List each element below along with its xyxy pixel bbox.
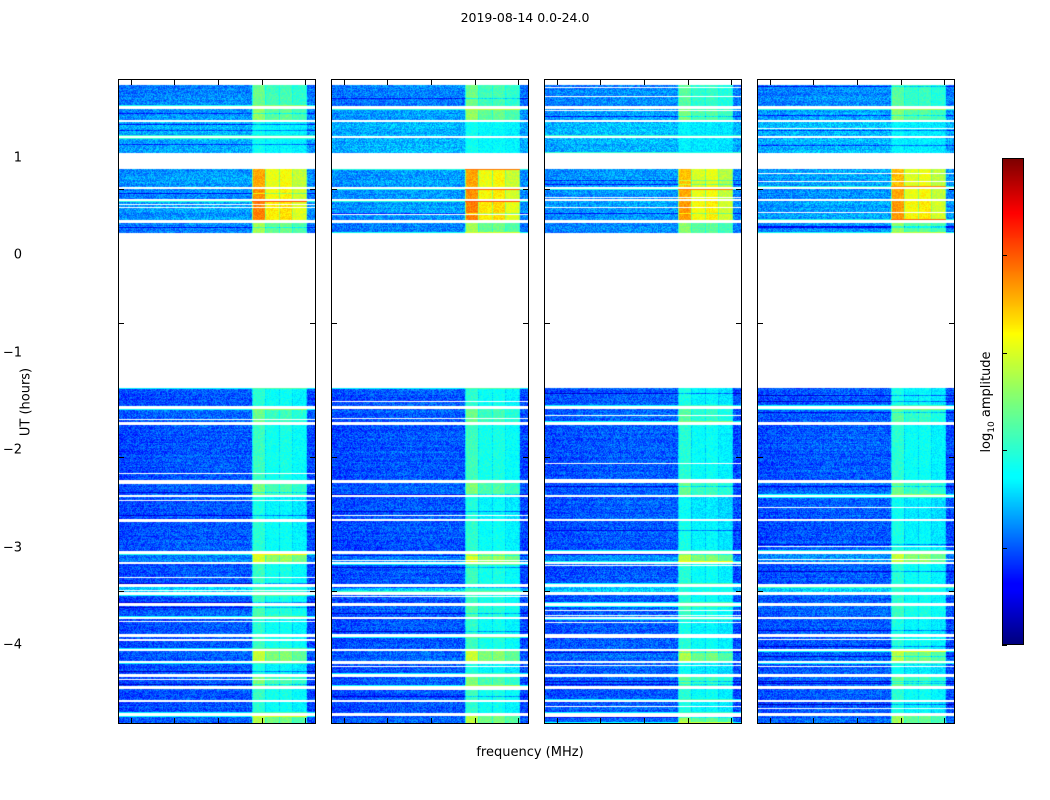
waterfall-image xyxy=(332,80,528,723)
colorbar-tick-label: −3 xyxy=(3,540,22,555)
x-tick-mark xyxy=(901,80,902,85)
y-axis-label: UT (hours) xyxy=(19,368,34,436)
x-tick-mark xyxy=(131,718,132,723)
y-tick-mark xyxy=(310,591,315,592)
y-tick-mark xyxy=(545,189,550,190)
y-tick-mark xyxy=(332,323,337,324)
x-tick-mark xyxy=(731,80,732,85)
y-tick-mark xyxy=(545,591,550,592)
colorbar-tick-mark xyxy=(1002,353,1007,354)
y-tick-mark xyxy=(523,591,528,592)
x-tick-mark xyxy=(518,718,519,723)
x-tick-mark xyxy=(387,718,388,723)
x-tick-mark xyxy=(813,718,814,723)
y-tick-mark xyxy=(119,457,124,458)
colorbar-tick-mark xyxy=(1002,548,1007,549)
x-tick-mark xyxy=(218,718,219,723)
x-tick-mark xyxy=(305,80,306,85)
x-tick-mark xyxy=(431,718,432,723)
y-tick-mark xyxy=(119,591,124,592)
x-tick-mark xyxy=(857,80,858,85)
colorbar-tick-mark xyxy=(1002,645,1007,646)
x-tick-mark xyxy=(813,80,814,85)
x-tick-mark xyxy=(344,718,345,723)
x-tick-mark xyxy=(644,80,645,85)
y-tick-mark xyxy=(736,591,741,592)
waterfall-image xyxy=(545,80,741,723)
y-tick-mark xyxy=(758,323,763,324)
y-tick-mark xyxy=(545,457,550,458)
x-tick-mark xyxy=(857,718,858,723)
figure-canvas: 2019-08-14 0.0-24.0 UT (hours) frequency… xyxy=(0,0,1050,800)
waterfall-canvas xyxy=(119,80,315,723)
x-tick-mark xyxy=(387,80,388,85)
x-tick-mark xyxy=(431,80,432,85)
waterfall-canvas xyxy=(758,80,954,723)
y-tick-mark xyxy=(332,189,337,190)
y-tick-mark xyxy=(758,189,763,190)
x-tick-mark xyxy=(218,80,219,85)
x-tick-mark xyxy=(944,718,945,723)
x-tick-mark xyxy=(600,80,601,85)
y-tick-mark xyxy=(736,323,741,324)
x-tick-mark xyxy=(770,80,771,85)
y-tick-mark xyxy=(758,457,763,458)
y-tick-mark xyxy=(523,323,528,324)
y-tick-mark xyxy=(310,189,315,190)
colorbar-tick-label: 0 xyxy=(14,248,22,263)
y-tick-mark xyxy=(949,323,954,324)
colorbar-tick-mark xyxy=(1002,450,1007,451)
spectrum-panel-xy[interactable]: XY, V9*V16=EA07*EA0605101520320335350365… xyxy=(544,79,742,724)
x-tick-mark xyxy=(688,718,689,723)
y-tick-mark xyxy=(949,189,954,190)
x-tick-mark xyxy=(770,718,771,723)
x-tick-mark xyxy=(557,80,558,85)
colorbar-label: log10 amplitude xyxy=(979,351,997,452)
x-tick-mark xyxy=(475,718,476,723)
x-tick-mark xyxy=(174,80,175,85)
x-tick-mark xyxy=(131,80,132,85)
y-tick-mark xyxy=(523,189,528,190)
x-tick-mark xyxy=(557,718,558,723)
x-tick-mark xyxy=(644,718,645,723)
x-tick-mark xyxy=(305,718,306,723)
x-axis-label: frequency (MHz) xyxy=(430,745,630,760)
y-tick-mark xyxy=(119,323,124,324)
y-tick-mark xyxy=(736,189,741,190)
colorbar-tick-label: −1 xyxy=(3,345,22,360)
y-tick-mark xyxy=(949,591,954,592)
y-tick-mark xyxy=(523,457,528,458)
y-tick-mark xyxy=(332,591,337,592)
y-tick-mark xyxy=(332,457,337,458)
x-tick-mark xyxy=(262,718,263,723)
y-tick-mark xyxy=(310,457,315,458)
colorbar-tick-label: 1 xyxy=(14,151,22,166)
y-tick-mark xyxy=(758,591,763,592)
x-tick-mark xyxy=(600,718,601,723)
x-tick-mark xyxy=(344,80,345,85)
y-tick-mark xyxy=(949,457,954,458)
x-tick-mark xyxy=(901,718,902,723)
y-tick-mark xyxy=(310,323,315,324)
colorbar-tick-mark xyxy=(1002,255,1007,256)
spectrum-panel-yx[interactable]: YX, V9*V16=EA07*EA0605101520320335350365… xyxy=(757,79,955,724)
y-tick-mark xyxy=(736,457,741,458)
x-tick-mark xyxy=(688,80,689,85)
waterfall-canvas xyxy=(332,80,528,723)
colorbar-tick-mark xyxy=(1002,158,1007,159)
x-tick-mark xyxy=(518,80,519,85)
waterfall-image xyxy=(119,80,315,723)
waterfall-canvas xyxy=(545,80,741,723)
y-tick-mark xyxy=(119,189,124,190)
y-tick-mark xyxy=(545,323,550,324)
x-tick-mark xyxy=(944,80,945,85)
x-tick-mark xyxy=(731,718,732,723)
x-tick-mark xyxy=(262,80,263,85)
x-tick-mark xyxy=(174,718,175,723)
colorbar xyxy=(1002,158,1024,645)
colorbar-tick-label: −4 xyxy=(3,638,22,653)
x-tick-mark xyxy=(475,80,476,85)
spectrum-panel-xx[interactable]: XX, V9*V16=EA07*EA0605101520320335350365… xyxy=(118,79,316,724)
colorbar-tick-label: −2 xyxy=(3,443,22,458)
spectrum-panel-yy[interactable]: YY, V9*V16=EA07*EA0605101520320335350365… xyxy=(331,79,529,724)
figure-suptitle: 2019-08-14 0.0-24.0 xyxy=(0,10,1050,25)
waterfall-image xyxy=(758,80,954,723)
